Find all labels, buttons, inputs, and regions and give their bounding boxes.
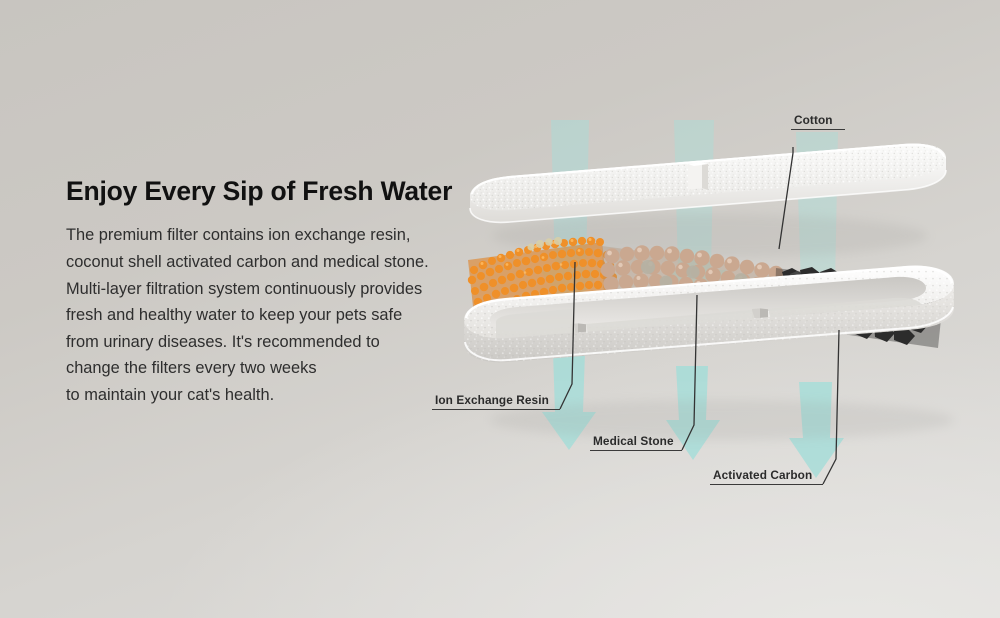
callout-rule — [791, 129, 845, 130]
copy-block: Enjoy Every Sip of Fresh Water The premi… — [66, 176, 486, 409]
paragraph-line: Multi-layer filtration system continuous… — [66, 276, 486, 303]
cotton-pad-tab — [688, 162, 708, 190]
paragraph-line: coconut shell activated carbon and medic… — [66, 249, 486, 276]
paragraph-line: change the filters every two weeks — [66, 355, 486, 382]
callout-medical-stone[interactable]: Medical Stone — [590, 432, 682, 451]
callout-label: Cotton — [791, 113, 836, 129]
callout-label: Medical Stone — [590, 434, 677, 450]
callout-activated-carbon[interactable]: Activated Carbon — [710, 466, 823, 485]
callout-rule — [432, 409, 560, 410]
infographic-canvas: Enjoy Every Sip of Fresh Water The premi… — [0, 0, 1000, 618]
page-title: Enjoy Every Sip of Fresh Water — [66, 176, 486, 206]
callout-rule — [710, 484, 823, 485]
description-paragraph: The premium filter contains ion exchange… — [66, 222, 486, 408]
paragraph-line: The premium filter contains ion exchange… — [66, 222, 486, 249]
callout-rule — [590, 450, 682, 451]
callout-ion-exchange-resin[interactable]: Ion Exchange Resin — [432, 391, 560, 410]
callout-cotton[interactable]: Cotton — [791, 129, 845, 132]
paragraph-line: to maintain your cat's health. — [66, 382, 486, 409]
paragraph-line: from urinary diseases. It's recommended … — [66, 329, 486, 356]
callout-label: Activated Carbon — [710, 468, 815, 484]
callout-label: Ion Exchange Resin — [432, 393, 552, 409]
filter-exploded-diagram — [452, 120, 1000, 520]
paragraph-line: fresh and healthy water to keep your pet… — [66, 302, 486, 329]
